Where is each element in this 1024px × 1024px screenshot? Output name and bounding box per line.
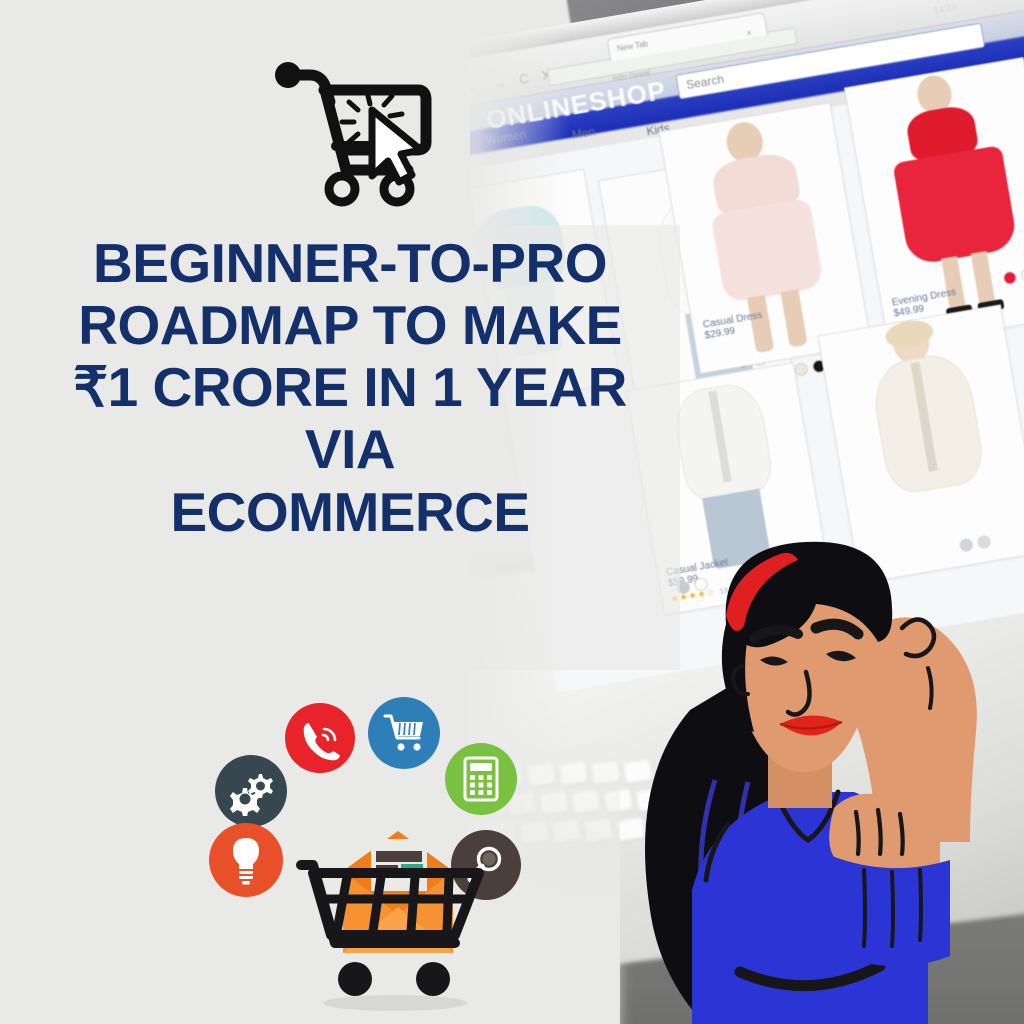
swatch — [1020, 267, 1024, 282]
title-line-4: VIA — [0, 418, 700, 480]
system-clock: 14:23 — [933, 2, 957, 16]
gears-icon[interactable] — [215, 755, 287, 827]
title-line-2: ROADMAP TO MAKE — [0, 294, 700, 356]
page-title: BEGINNER-TO-PRO ROADMAP TO MAKE ₹1 CRORE… — [0, 232, 700, 543]
woman-flexing-illustration — [540, 520, 1024, 1024]
tab-label: New Tab — [616, 39, 648, 53]
title-line-3: ₹1 CRORE IN 1 YEAR — [0, 356, 700, 418]
nav-item-men[interactable]: Men — [571, 124, 596, 142]
ecommerce-icon-cluster — [205, 695, 545, 1024]
shopping-cart-circle-icon[interactable] — [368, 697, 440, 769]
poster-canvas: ← → C X New Tab × http://www. 14:23 ONLI… — [0, 0, 1024, 1024]
shopping-cart-envelope-icon[interactable] — [283, 803, 513, 1018]
swatch — [1002, 270, 1017, 285]
lightbulb-icon[interactable] — [209, 823, 283, 897]
cart-cursor-icon — [266, 58, 436, 208]
title-line-1: BEGINNER-TO-PRO — [0, 232, 700, 294]
swatch — [794, 362, 809, 377]
phone-icon[interactable] — [285, 703, 355, 773]
